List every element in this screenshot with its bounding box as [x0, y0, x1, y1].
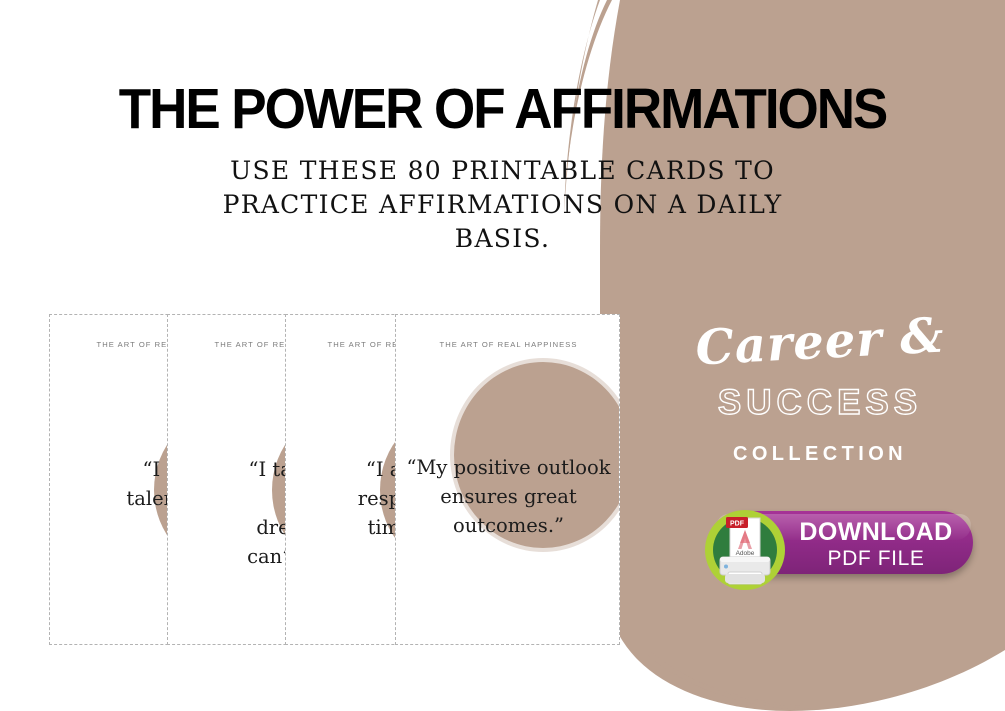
affirmation-card-strip: THE ART OF REAL HAPPINESS “I have w tale…: [49, 314, 620, 645]
affirmation-card[interactable]: THE ART OF REAL HAPPINESS “My positive o…: [395, 314, 620, 645]
brand-collection-label: COLLECTION: [660, 441, 980, 467]
svg-text:Adobe: Adobe: [736, 550, 755, 557]
collection-branding: Career & SUCCESS COLLECTION: [660, 315, 980, 467]
download-pdf-button[interactable]: PDF Adobe DOWNLOAD PDF FILE: [703, 508, 973, 580]
download-main-label: DOWNLOAD: [785, 519, 967, 546]
pdf-printer-icon: PDF Adobe: [703, 508, 787, 592]
card-quote-line: “My positive outlook: [396, 453, 620, 482]
page-title: THE POWER OF AFFIRMATIONS: [35, 78, 970, 140]
download-sub-label: PDF FILE: [785, 546, 967, 571]
poster-canvas: THE POWER OF AFFIRMATIONS USE THESE 80 P…: [0, 0, 1005, 711]
page-subtitle: USE THESE 80 PRINTABLE CARDS TO PRACTICE…: [183, 154, 823, 256]
card-quote-line: outcomes.”: [396, 511, 620, 540]
download-button-text: DOWNLOAD PDF FILE: [785, 519, 967, 571]
card-quote-text: “My positive outlook ensures great outco…: [396, 453, 620, 540]
card-header-label: THE ART OF REAL HAPPINESS: [396, 340, 620, 349]
brand-script-title: Career &: [659, 307, 981, 378]
svg-text:PDF: PDF: [730, 521, 745, 528]
card-quote-line: ensures great: [396, 482, 620, 511]
poster-heading: THE POWER OF AFFIRMATIONS USE THESE 80 P…: [0, 78, 1005, 256]
brand-outline-title: SUCCESS: [660, 383, 980, 423]
